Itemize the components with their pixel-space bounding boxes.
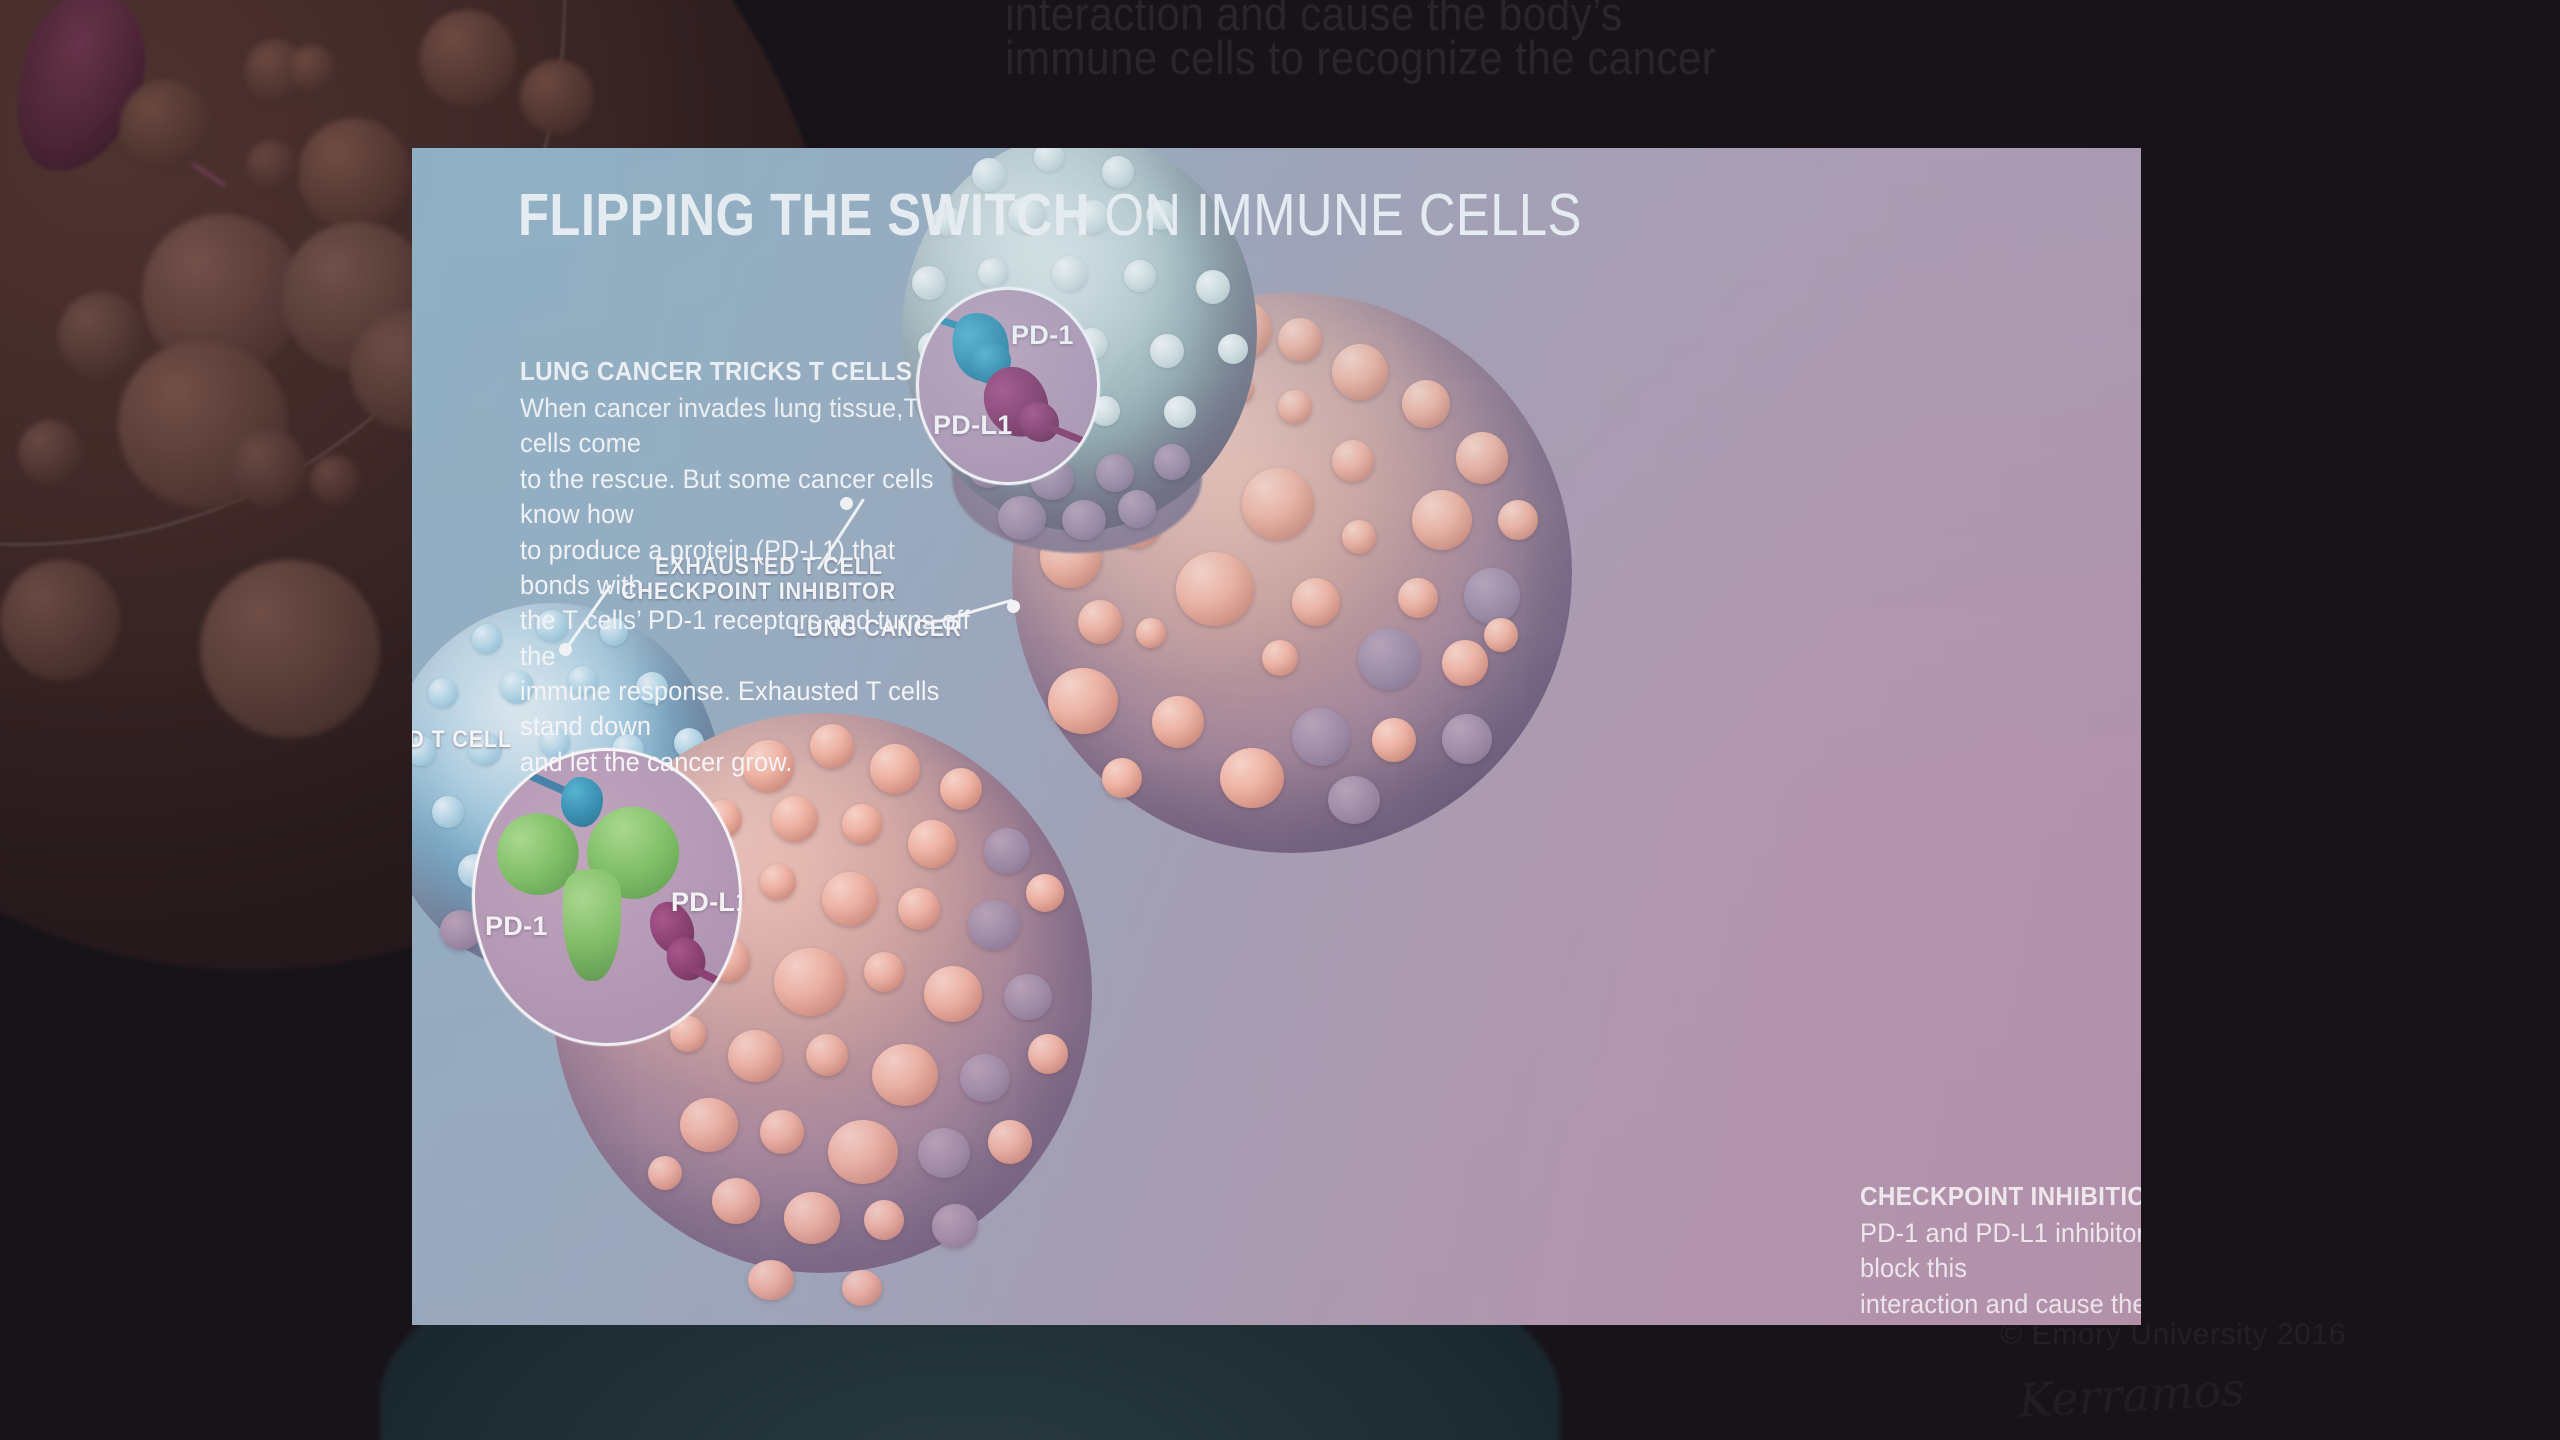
background-bump bbox=[58, 292, 144, 378]
screenshot-canvas: interaction and cause the body’s immune … bbox=[0, 0, 2560, 1440]
background-bump bbox=[420, 10, 516, 106]
background-bump bbox=[0, 560, 120, 680]
checkpoint-inhibitor-inset: PD-1 PD-L1 bbox=[472, 748, 742, 1046]
body-line: to the rescue. But some cancer cells kno… bbox=[520, 462, 971, 533]
body-line: to produce a protein (PD-L1) that bonds … bbox=[520, 533, 971, 604]
pdl1-protein-lobe bbox=[1019, 402, 1059, 442]
body-line: When cancer invades lung tissue,T cells … bbox=[520, 391, 971, 462]
body-line: the T cells’ PD-1 receptors and turns of… bbox=[520, 603, 971, 674]
body-line: PD-1 and PD-L1 inhibitors block this bbox=[1860, 1216, 2141, 1287]
text-block-inhibition-heading: CHECKPOINT INHIBITION bbox=[1860, 1183, 2141, 1212]
background-bump bbox=[520, 60, 594, 134]
inset-label-pd1: PD-1 bbox=[1011, 320, 1074, 351]
inset-label-pd1: PD-1 bbox=[485, 911, 548, 942]
text-block-tricks: LUNG CANCER TRICKS T CELLS When cancer i… bbox=[520, 358, 990, 780]
inset-label-pdl1: PD-L1 bbox=[671, 887, 742, 918]
page-title-light: ON IMMUNE CELLS bbox=[1104, 182, 1581, 248]
background-bump bbox=[246, 140, 298, 192]
page-title: FLIPPING THE SWITCH ON IMMUNE CELLS bbox=[518, 186, 1582, 245]
callout-activated-t-cell: ACTIVATED T CELL bbox=[412, 726, 512, 754]
body-line: and let the cancer grow. bbox=[520, 745, 971, 780]
text-block-tricks-heading: LUNG CANCER TRICKS T CELLS bbox=[520, 358, 967, 387]
body-line: immune response. Exhausted T cells stand… bbox=[520, 674, 971, 745]
background-bump bbox=[230, 430, 306, 506]
background-ghost-line-2: immune cells to recognize the cancer bbox=[1005, 30, 1716, 85]
text-block-tricks-body: When cancer invades lung tissue,T cells … bbox=[520, 391, 971, 780]
page-title-bold: FLIPPING THE SWITCH bbox=[518, 182, 1090, 248]
background-bump bbox=[200, 560, 380, 738]
background-bump bbox=[298, 118, 410, 230]
cancer-bump bbox=[842, 1270, 882, 1306]
inhibitor-antibody-stem bbox=[563, 869, 621, 981]
body-line: interaction and cause the body’s bbox=[1860, 1287, 2141, 1325]
infographic-panel: PD-1 PD-L1 bbox=[412, 148, 2141, 1325]
background-bump bbox=[288, 45, 336, 93]
pd1-receptor-protein bbox=[561, 777, 603, 827]
text-block-inhibition: CHECKPOINT INHIBITION PD-1 and PD-L1 inh… bbox=[1860, 1183, 2141, 1325]
background-bump bbox=[310, 455, 360, 505]
background-bump bbox=[120, 80, 212, 172]
background-bump bbox=[18, 420, 82, 484]
text-block-inhibition-body: PD-1 and PD-L1 inhibitors block this int… bbox=[1860, 1216, 2141, 1325]
